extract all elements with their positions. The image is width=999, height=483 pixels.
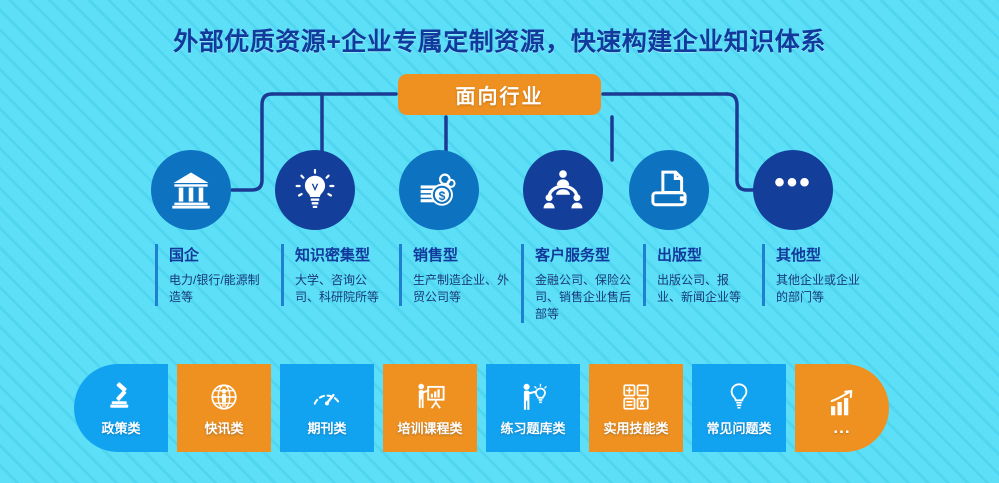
node-label-desc: 金融公司、保险公司、销售企业售后部等 bbox=[535, 272, 633, 323]
node-label-desc: 大学、咨询公司、科研院所等 bbox=[295, 272, 389, 306]
tile-label: 政策类 bbox=[101, 418, 140, 437]
node-label-title: 知识密集型 bbox=[295, 244, 389, 265]
tile-exercise[interactable]: 练习题库类 bbox=[486, 364, 580, 452]
page-title: 外部优质资源+企业专属定制资源，快速构建企业知识体系 bbox=[0, 22, 999, 58]
bank-icon bbox=[170, 169, 212, 211]
node-label-desc: 电力/银行/能源制造等 bbox=[169, 272, 267, 306]
node-label-other: 其他型 其他企业或企业的部门等 bbox=[762, 244, 868, 306]
printer-document-icon bbox=[648, 169, 690, 211]
presentation-icon bbox=[414, 379, 446, 415]
bar-chart-arrow-icon bbox=[827, 385, 857, 421]
gavel-icon bbox=[106, 379, 136, 415]
node-label-title: 出版型 bbox=[657, 244, 749, 265]
node-label-customer-service: 客户服务型 金融公司、保险公司、销售企业售后部等 bbox=[521, 244, 633, 323]
node-label-knowledge: 知识密集型 大学、咨询公司、科研院所等 bbox=[281, 244, 389, 306]
node-label-desc: 出版公司、报业、新闻企业等 bbox=[657, 272, 749, 306]
node-circle-bank[interactable] bbox=[151, 150, 231, 230]
money-stack-icon: $ bbox=[417, 168, 461, 212]
node-circle-customer-service[interactable] bbox=[523, 150, 603, 230]
tile-label: ... bbox=[833, 424, 850, 432]
ellipsis-icon: ••• bbox=[774, 178, 812, 188]
tile-more[interactable]: ... bbox=[795, 364, 889, 452]
node-label-desc: 其他企业或企业的部门等 bbox=[776, 272, 868, 306]
category-tile-strip: 政策类 快讯类 bbox=[74, 364, 889, 452]
node-label-bank: 国企 电力/银行/能源制造等 bbox=[155, 244, 267, 306]
tile-skills[interactable]: 实用技能类 bbox=[589, 364, 683, 452]
tile-label: 练习题库类 bbox=[500, 418, 565, 437]
globe-person-icon bbox=[209, 379, 239, 415]
node-label-publishing: 出版型 出版公司、报业、新闻企业等 bbox=[643, 244, 749, 306]
node-circle-other[interactable]: ••• bbox=[753, 150, 833, 230]
lightbulb-icon bbox=[724, 379, 754, 415]
tile-label: 快讯类 bbox=[204, 418, 243, 437]
gauge-icon bbox=[311, 379, 343, 415]
node-label-title: 其他型 bbox=[776, 244, 868, 265]
tile-label: 期刊类 bbox=[307, 418, 346, 437]
tile-label: 常见问题类 bbox=[706, 418, 771, 437]
person-idea-icon bbox=[517, 379, 549, 415]
tile-label: 实用技能类 bbox=[603, 418, 668, 437]
node-circle-publishing[interactable] bbox=[629, 150, 709, 230]
tile-faq[interactable]: 常见问题类 bbox=[692, 364, 786, 452]
node-label-sales: 销售型 生产制造企业、外贸公司等 bbox=[399, 244, 511, 306]
tile-policy[interactable]: 政策类 bbox=[74, 364, 168, 452]
lightbulb-idea-icon bbox=[293, 168, 337, 212]
tile-training[interactable]: 培训课程类 bbox=[383, 364, 477, 452]
node-label-title: 国企 bbox=[169, 244, 267, 265]
node-label-desc: 生产制造企业、外贸公司等 bbox=[413, 272, 511, 306]
tile-label: 培训课程类 bbox=[397, 418, 462, 437]
calculator-icon bbox=[621, 379, 651, 415]
customer-service-team-icon bbox=[541, 168, 585, 212]
industry-banner[interactable]: 面向行业 bbox=[398, 74, 601, 115]
tile-news[interactable]: 快讯类 bbox=[177, 364, 271, 452]
tile-journal[interactable]: 期刊类 bbox=[280, 364, 374, 452]
infographic-canvas: 外部优质资源+企业专属定制资源，快速构建企业知识体系 面向行业 bbox=[0, 0, 999, 483]
node-circle-knowledge[interactable] bbox=[275, 150, 355, 230]
node-circle-sales[interactable]: $ bbox=[399, 150, 479, 230]
node-label-title: 客户服务型 bbox=[535, 244, 633, 265]
node-label-title: 销售型 bbox=[413, 244, 511, 265]
svg-text:$: $ bbox=[439, 189, 446, 203]
